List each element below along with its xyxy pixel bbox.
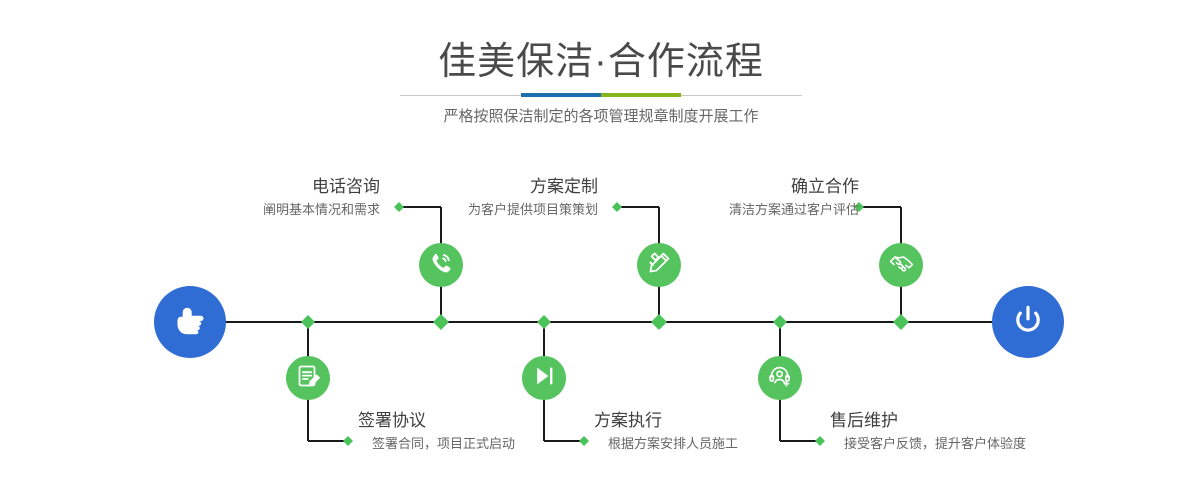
document-edit-icon — [295, 363, 321, 394]
handshake-icon — [888, 249, 915, 281]
step-icon-5[interactable] — [879, 243, 923, 287]
step-title-3: 方案定制 — [468, 176, 598, 198]
process-flow-diagram: 电话咨询 阐明基本情况和需求 签署协议 签署合同，项目正式启动 — [0, 150, 1202, 502]
axis-marker-step-3 — [651, 314, 667, 330]
label-marker-step-2 — [343, 436, 353, 446]
label-marker-step-1 — [394, 202, 404, 212]
step-title-2: 签署协议 — [358, 410, 515, 432]
divider-segment-green — [601, 93, 681, 97]
axis-marker-step-6 — [773, 315, 787, 329]
step-subtitle-6: 接受客户反馈，提升客户体验度 — [830, 434, 1026, 454]
pointing-hand-icon — [170, 300, 210, 345]
title-divider — [400, 93, 802, 97]
step-subtitle-4: 根据方案安排人员施工 — [594, 434, 738, 454]
step-icon-6[interactable] — [758, 356, 802, 400]
step-label-6: 售后维护 接受客户反馈，提升客户体验度 — [830, 410, 1026, 454]
step-title-1: 电话咨询 — [263, 176, 380, 198]
axis-marker-step-5 — [893, 314, 909, 330]
step-label-2: 签署协议 签署合同，项目正式启动 — [358, 410, 515, 454]
step-label-5: 确立合作 清洁方案通过客户评估 — [729, 176, 859, 220]
page-header: 佳美保洁·合作流程 严格按照保洁制定的各项管理规章制度开展工作 — [0, 0, 1202, 150]
step-subtitle-5: 清洁方案通过客户评估 — [729, 200, 859, 220]
label-marker-step-4 — [579, 436, 589, 446]
flow-end-node[interactable] — [992, 286, 1064, 358]
step-label-1: 电话咨询 阐明基本情况和需求 — [263, 176, 380, 220]
page-root: 佳美保洁·合作流程 严格按照保洁制定的各项管理规章制度开展工作 — [0, 0, 1202, 502]
step-subtitle-2: 签署合同，项目正式启动 — [358, 434, 515, 454]
step-icon-2[interactable] — [286, 356, 330, 400]
step-icon-4[interactable] — [522, 356, 566, 400]
customer-support-add-icon — [767, 363, 793, 394]
page-subtitle: 严格按照保洁制定的各项管理规章制度开展工作 — [0, 105, 1202, 129]
step-label-4: 方案执行 根据方案安排人员施工 — [594, 410, 738, 454]
play-skip-icon — [531, 363, 557, 394]
step-title-5: 确立合作 — [729, 176, 859, 198]
step-title-4: 方案执行 — [594, 410, 738, 432]
step-subtitle-3: 为客户提供项目策策划 — [468, 200, 598, 220]
flow-start-node[interactable] — [154, 286, 226, 358]
axis-marker-step-4 — [537, 315, 551, 329]
power-icon — [1008, 300, 1048, 345]
step-subtitle-1: 阐明基本情况和需求 — [263, 200, 380, 220]
step-title-6: 售后维护 — [830, 410, 1026, 432]
pencil-ruler-icon — [646, 250, 672, 281]
step-icon-1[interactable] — [419, 243, 463, 287]
axis-marker-step-2 — [301, 315, 315, 329]
label-marker-step-3 — [612, 202, 622, 212]
label-marker-step-6 — [815, 436, 825, 446]
step-label-3: 方案定制 为客户提供项目策策划 — [468, 176, 598, 220]
page-title: 佳美保洁·合作流程 — [0, 38, 1202, 86]
phone-ring-icon — [428, 250, 454, 281]
step-icon-3[interactable] — [637, 243, 681, 287]
axis-marker-step-1 — [433, 314, 449, 330]
divider-segment-blue — [521, 93, 601, 97]
